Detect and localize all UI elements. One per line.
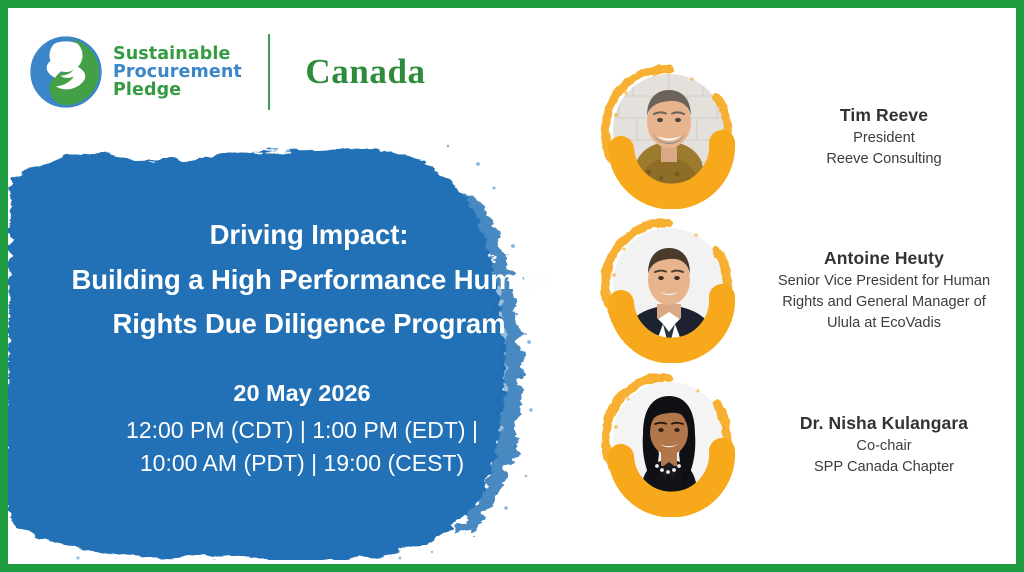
speaker-info: Tim Reeve President Reeve Consulting (742, 103, 1024, 170)
speaker-photo-wrap (596, 63, 742, 209)
event-date: 20 May 2026 (42, 376, 562, 410)
speaker-org-line2: Ulula at EcoVadis (756, 313, 1012, 334)
speaker-name: Antoine Heuty (756, 246, 1012, 270)
spp-logo-icon (30, 36, 102, 108)
webinar-promo-poster: Sustainable Procurement Pledge Canada (0, 0, 1024, 572)
event-time-line-1: 12:00 PM (CDT) | 1:00 PM (EDT) | (42, 414, 562, 447)
speaker-info: Antoine Heuty Senior Vice President for … (742, 246, 1024, 333)
speaker-org: SPP Canada Chapter (756, 457, 1012, 478)
speaker-role: President (756, 128, 1012, 149)
event-time-line-2: 10:00 AM (PDT) | 19:00 (CEST) (42, 447, 562, 480)
speaker-name: Dr. Nisha Kulangara (756, 411, 1012, 435)
speaker-info: Dr. Nisha Kulangara Co-chair SPP Canada … (742, 411, 1024, 478)
speaker-photo (613, 74, 725, 186)
speaker-card: Dr. Nisha Kulangara Co-chair SPP Canada … (596, 370, 1024, 518)
event-title: Driving Impact: Building a High Performa… (42, 213, 576, 347)
header-lockup: Sustainable Procurement Pledge Canada (30, 26, 426, 118)
speaker-photo-wrap (596, 217, 742, 363)
chapter-name: Canada (305, 52, 425, 92)
spp-wordmark: Sustainable Procurement Pledge (113, 45, 242, 100)
header-divider (268, 34, 271, 110)
speaker-photo (613, 228, 725, 340)
wordmark-line-3: Pledge (113, 81, 242, 99)
speaker-card: Antoine Heuty Senior Vice President for … (596, 216, 1024, 364)
speaker-photo-wrap (596, 371, 742, 517)
speaker-card: Tim Reeve President Reeve Consulting (596, 62, 1024, 210)
speaker-role: Senior Vice President for Human (756, 271, 1012, 292)
speaker-photo (613, 382, 725, 494)
wordmark-line-2: Procurement (113, 63, 242, 81)
wordmark-line-1: Sustainable (113, 45, 242, 63)
event-datetime: 20 May 2026 12:00 PM (CDT) | 1:00 PM (ED… (42, 376, 562, 481)
speakers-list: Tim Reeve President Reeve Consulting (596, 52, 1024, 540)
speaker-role: Co-chair (756, 436, 1012, 457)
speaker-org: Reeve Consulting (756, 149, 1012, 170)
title-line-1: Driving Impact: (42, 213, 576, 258)
speaker-name: Tim Reeve (756, 103, 1012, 127)
speaker-org: Rights and General Manager of (756, 292, 1012, 313)
title-line-3: Rights Due Diligence Program (42, 302, 576, 347)
title-line-2: Building a High Performance Human (42, 258, 576, 303)
